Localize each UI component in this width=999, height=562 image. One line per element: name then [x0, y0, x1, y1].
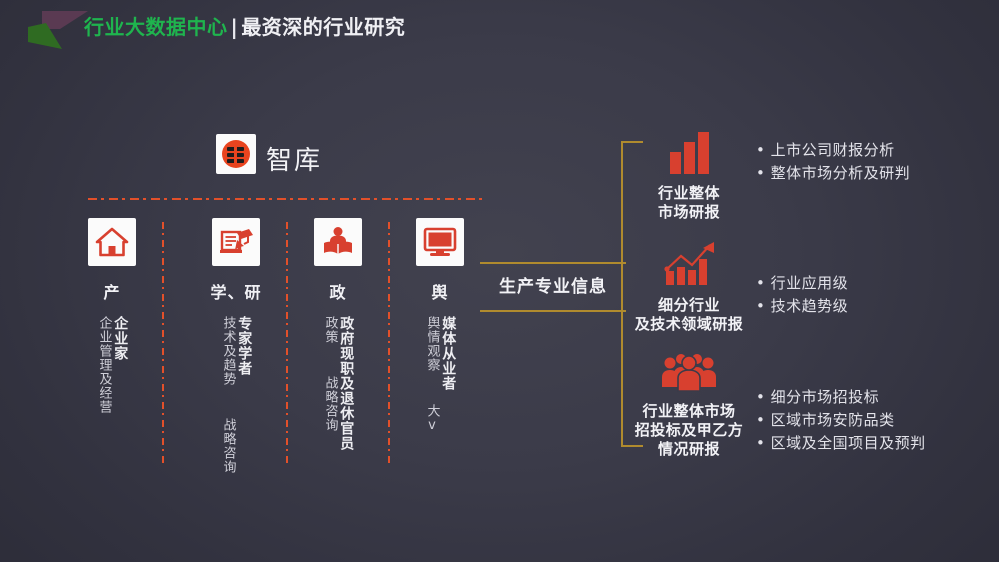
output-bullet: 整体市场分析及研判: [756, 162, 910, 185]
source-title: 学、研: [186, 279, 286, 303]
source-column-zheng: 政: [288, 218, 388, 303]
source-column-yu: 舆: [390, 218, 490, 303]
output-bullet: 细分市场招投标: [756, 386, 926, 409]
person-reading-book-icon: [314, 218, 362, 266]
source-detail-chan: 企业家 企业管理及经营: [62, 316, 162, 414]
book-stack-circle-icon: [216, 134, 256, 174]
two-triangles-logo-icon: [26, 8, 88, 50]
source-detail-xueyan: 专家学者 技术及趋势 战略咨询: [186, 316, 286, 474]
source-title: 舆: [390, 279, 490, 303]
source-thin-text: 舆情观察 大v: [425, 316, 439, 434]
middle-divider-bottom: [480, 310, 626, 312]
middle-label: 生产专业信息: [480, 268, 626, 306]
source-thin-text: 技术及趋势 战略咨询: [221, 316, 235, 474]
output-bullet: 技术趋势级: [756, 295, 848, 318]
source-column-chan: 产: [62, 218, 162, 303]
source-bold-text: 政府现职及退休官员: [338, 316, 353, 451]
source-thin-text: 政策 战略咨询: [323, 316, 337, 451]
output-icon-group-3: 行业整体市场 招投标及甲乙方 情况研报: [634, 350, 744, 459]
source-title: 产: [62, 279, 162, 303]
output-bullets-2: 行业应用级 技术趋势级: [756, 272, 848, 318]
output-bullet: 区域市场安防品类: [756, 409, 926, 432]
header-divider: |: [228, 15, 242, 39]
slide-canvas: 行业大数据中心|最资深的行业研究 智库 产 企业家 企业管理及经营: [0, 0, 999, 562]
house-icon: [88, 218, 136, 266]
output-bullets-1: 上市公司财报分析 整体市场分析及研判: [756, 139, 910, 185]
people-group-icon: [661, 350, 717, 392]
divider-dashed-vertical: [162, 222, 164, 466]
source-bold-text: 企业家: [112, 316, 127, 414]
source-column-xueyan: 学、研: [186, 218, 286, 303]
output-icon-group-1: 行业整体 市场研报: [634, 130, 744, 222]
output-bullet: 区域及全国项目及预判: [756, 432, 926, 455]
source-bold-text: 媒体从业者: [440, 316, 455, 434]
desktop-monitor-icon: [416, 218, 464, 266]
brand-text: 行业大数据中心: [84, 15, 228, 39]
source-title: 政: [288, 279, 388, 303]
source-detail-yu: 媒体从业者 舆情观察 大v: [390, 316, 490, 434]
bar-chart-icon: [662, 130, 716, 174]
output-title: 行业整体市场 招投标及甲乙方 情况研报: [634, 402, 744, 459]
output-bullets-3: 细分市场招投标 区域市场安防品类 区域及全国项目及预判: [756, 386, 926, 455]
middle-divider-top: [480, 262, 626, 264]
output-icon-group-2: 细分行业 及技术领域研报: [634, 240, 744, 334]
header-title: 行业大数据中心|最资深的行业研究: [84, 13, 405, 41]
output-bullet: 行业应用级: [756, 272, 848, 295]
trend-up-chart-icon: [658, 240, 720, 286]
source-detail-zheng: 政府现职及退休官员 政策 战略咨询: [288, 316, 388, 451]
output-title: 细分行业 及技术领域研报: [634, 296, 744, 334]
graduation-cap-document-icon: [212, 218, 260, 266]
output-bullet: 上市公司财报分析: [756, 139, 910, 162]
header-subtitle: 最资深的行业研究: [241, 15, 405, 39]
divider-dashed-horizontal: [88, 198, 482, 200]
source-bold-text: 专家学者: [236, 316, 251, 474]
think-tank-label: 智库: [266, 140, 322, 177]
source-thin-text: 企业管理及经营: [97, 316, 111, 414]
header: 行业大数据中心|最资深的行业研究: [0, 0, 999, 56]
output-title: 行业整体 市场研报: [634, 184, 744, 222]
